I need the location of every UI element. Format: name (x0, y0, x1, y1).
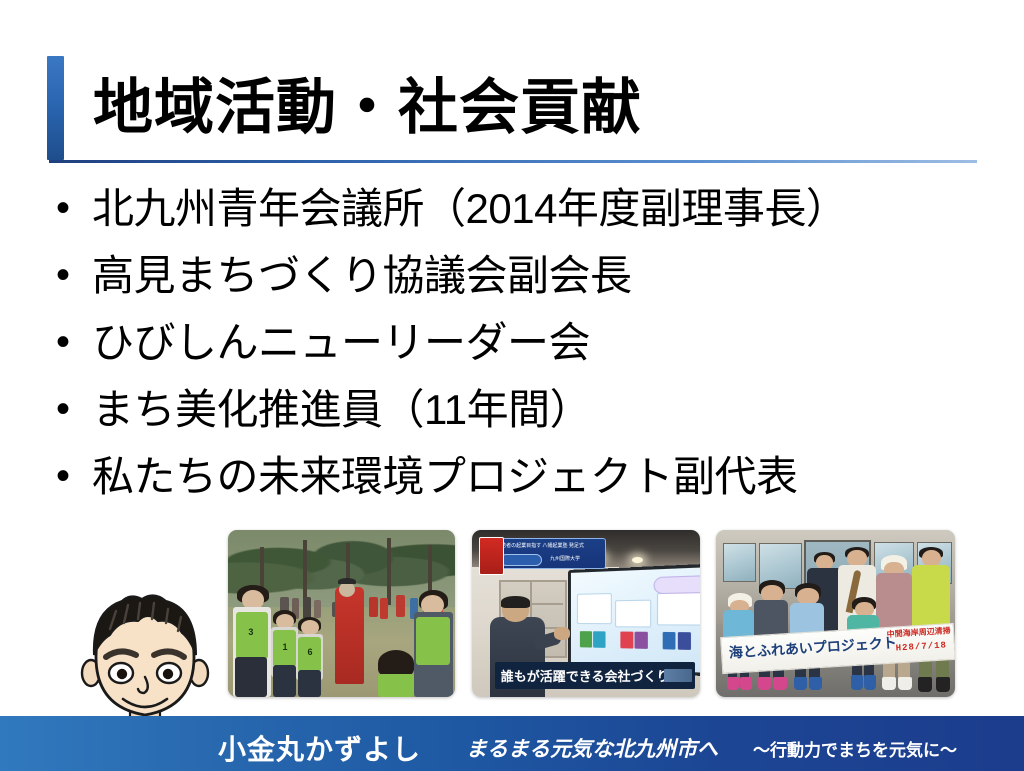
bullet-list: 北九州青年会議所（2014年度副理事長） 高見まちづくり協議会副会長 ひびしんニ… (56, 188, 976, 523)
list-item-label: 高見まちづくり協議会副会長 (92, 255, 632, 297)
project-banner-note1: 中間海岸周辺清掃 (886, 626, 951, 641)
bullet-dot-icon (56, 188, 92, 228)
slide-title-block: 地域活動・社会貢献 (47, 56, 977, 168)
page-title: 地域活動・社会貢献 (93, 58, 642, 158)
title-accent-bar (47, 56, 64, 160)
list-item: まち美化推進員（11年間） (56, 389, 976, 456)
candidate-name: 小金丸かずよし (218, 728, 421, 768)
tv-interview-photo: 若者の起業目指す 八幡起業塾 発足式 九州国際大学 誰もが活躍できる会社づくり (472, 530, 700, 697)
tv-caption-bar: 誰もが活躍できる会社づくり (495, 662, 696, 689)
list-item: ひびしんニューリーダー会 (56, 322, 976, 389)
park-event-photo: 3 1 6 (228, 530, 455, 697)
campaign-slogan: まるまる元気な北九州市へ (466, 733, 718, 763)
bullet-dot-icon (56, 456, 92, 496)
bullet-dot-icon (56, 389, 92, 429)
list-item-label: ひびしんニューリーダー会 (92, 322, 590, 364)
list-item-label: 北九州青年会議所（2014年度副理事長） (92, 188, 847, 230)
project-banner-note2: H28/7/18 (895, 641, 947, 654)
tv-overlay-line2: 九州国際大学 (550, 555, 580, 562)
tv-caption-text: 誰もが活躍できる会社づくり (495, 666, 670, 685)
title-divider-rule (49, 160, 977, 163)
campaign-subslogan: 〜行動力でまちを元気に〜 (753, 736, 957, 761)
project-banner-text: 海とふれあいプロジェクト (728, 633, 897, 663)
bottom-banner: 小金丸かずよし まるまる元気な北九州市へ 〜行動力でまちを元気に〜 (0, 716, 1024, 771)
bullet-dot-icon (56, 322, 92, 362)
tv-overlay-line1: 若者の起業目指す 八幡起業塾 発足式 (501, 542, 584, 549)
bullet-dot-icon (56, 255, 92, 295)
list-item-label: 私たちの未来環境プロジェクト副代表 (92, 456, 798, 498)
beach-cleanup-photo: 海とふれあいプロジェクト 中間海岸周辺清掃 H28/7/18 (716, 530, 955, 697)
list-item: 私たちの未来環境プロジェクト副代表 (56, 456, 976, 523)
list-item-label: まち美化推進員（11年間） (92, 389, 591, 431)
list-item: 北九州青年会議所（2014年度副理事長） (56, 188, 976, 255)
list-item: 高見まちづくり協議会副会長 (56, 255, 976, 322)
